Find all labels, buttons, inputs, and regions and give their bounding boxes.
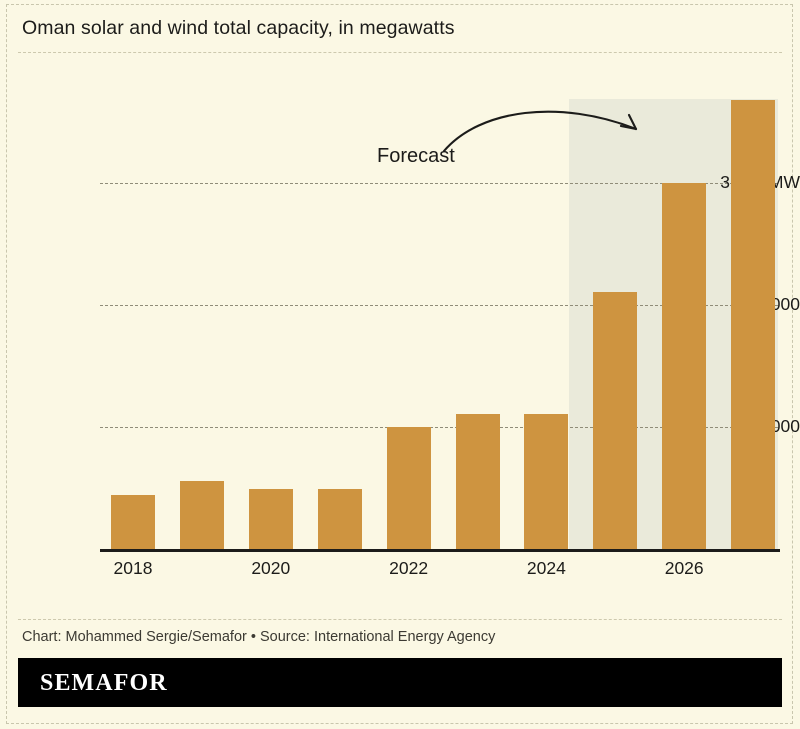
chart-credit: Chart: Mohammed Sergie/Semafor • Source:… bbox=[22, 629, 495, 645]
bar-2023 bbox=[456, 414, 500, 549]
plot-area: 3,000 MW2,0001,000 20182020202220242026 … bbox=[0, 0, 800, 600]
semafor-logo-text: SEMAFOR bbox=[40, 670, 168, 697]
x-axis-tick-label: 2020 bbox=[251, 558, 290, 579]
bar-2020 bbox=[249, 489, 293, 549]
chart-card: Oman solar and wind total capacity, in m… bbox=[0, 0, 800, 729]
bar-2026 bbox=[662, 183, 706, 549]
bar-2022 bbox=[387, 427, 431, 549]
bar-2025 bbox=[593, 292, 637, 549]
bar-2021 bbox=[318, 489, 362, 549]
bar-2027 bbox=[731, 100, 775, 549]
x-axis-tick-label: 2018 bbox=[114, 558, 153, 579]
x-axis-tick-label: 2026 bbox=[665, 558, 704, 579]
x-axis-tick-label: 2024 bbox=[527, 558, 566, 579]
x-axis-tick-label: 2022 bbox=[389, 558, 428, 579]
bar-2019 bbox=[180, 481, 224, 549]
bar-2018 bbox=[111, 495, 155, 549]
forecast-arrow-icon bbox=[440, 95, 670, 175]
footer-divider bbox=[18, 619, 782, 620]
x-axis-line bbox=[100, 549, 780, 552]
bar-2024 bbox=[524, 414, 568, 549]
